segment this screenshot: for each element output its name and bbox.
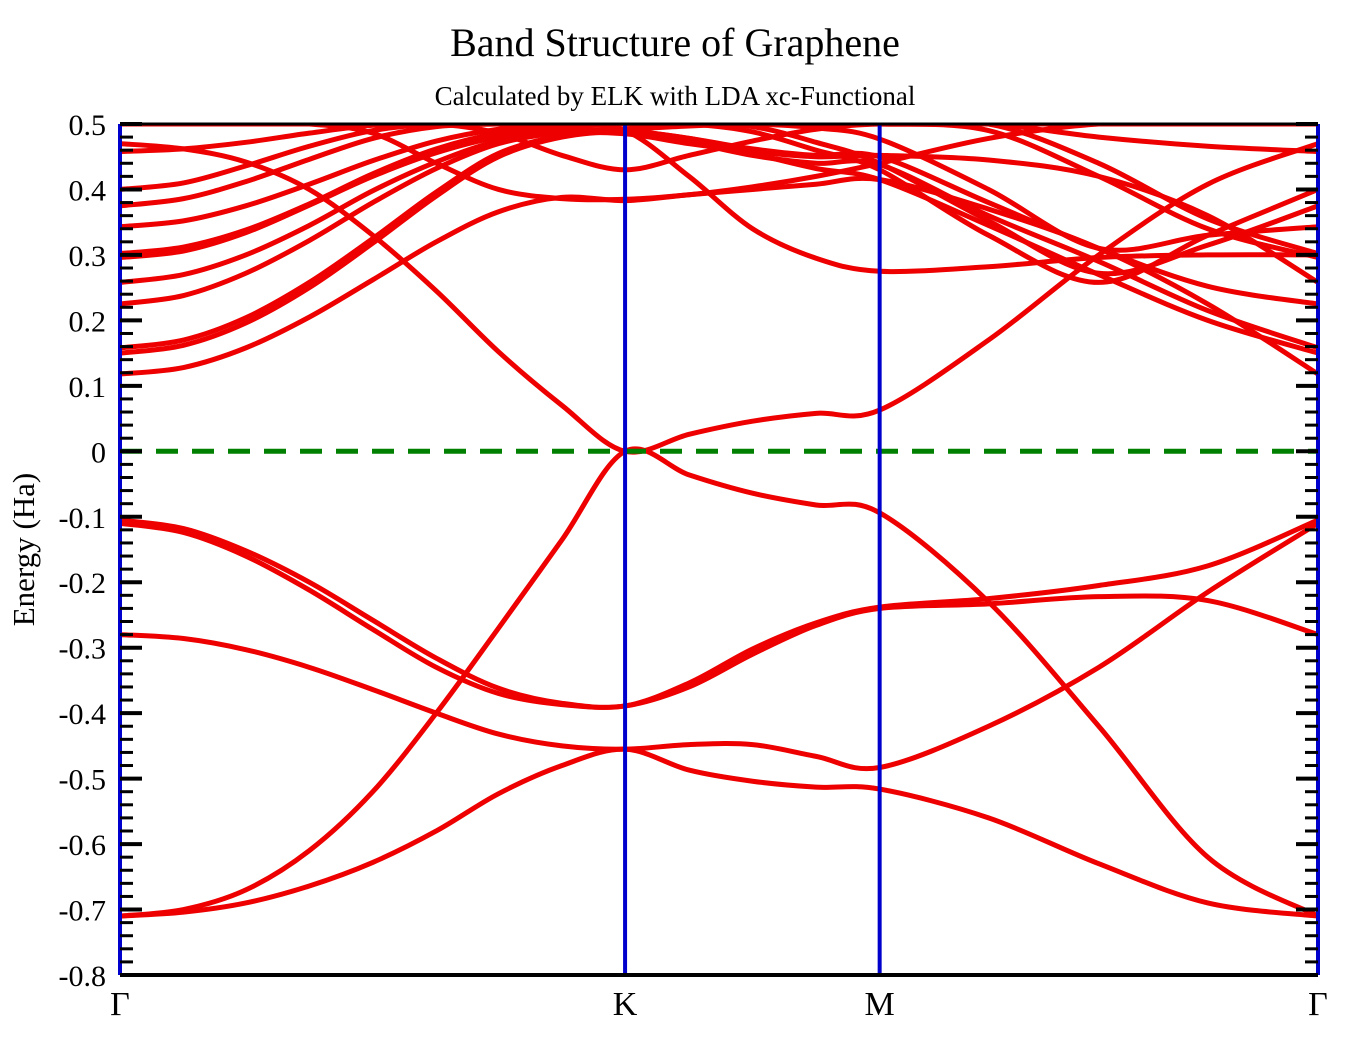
y-tick-label: 0.2 (69, 305, 107, 338)
y-axis-title: Energy (Ha) (6, 473, 41, 627)
plot-canvas: Band Structure of GrapheneCalculated by … (0, 0, 1350, 1036)
y-tick-label: -0.4 (59, 698, 107, 731)
y-tick-label: 0.5 (69, 109, 107, 142)
y-tick-label: -0.7 (59, 895, 107, 928)
y-tick-label: -0.3 (59, 633, 107, 666)
chart-subtitle: Calculated by ELK with LDA xc-Functional (435, 81, 916, 111)
x-tick-label-Γ: Γ (1308, 986, 1328, 1023)
y-tick-label: 0.4 (69, 174, 107, 207)
y-tick-label: 0 (91, 436, 106, 469)
y-tick-label: 0.3 (69, 240, 107, 273)
x-tick-label-Γ: Γ (110, 986, 130, 1023)
y-tick-label: -0.6 (59, 829, 107, 862)
band-structure-figure: Band Structure of GrapheneCalculated by … (0, 0, 1350, 1036)
chart-title: Band Structure of Graphene (450, 20, 900, 65)
y-tick-label: -0.2 (59, 567, 107, 600)
y-tick-label: -0.5 (59, 764, 107, 797)
y-tick-label: 0.1 (69, 371, 107, 404)
x-tick-label-K: K (613, 986, 638, 1023)
x-tick-label-M: M (865, 986, 895, 1023)
y-tick-label: -0.1 (59, 502, 107, 535)
y-tick-label: -0.8 (59, 960, 107, 993)
